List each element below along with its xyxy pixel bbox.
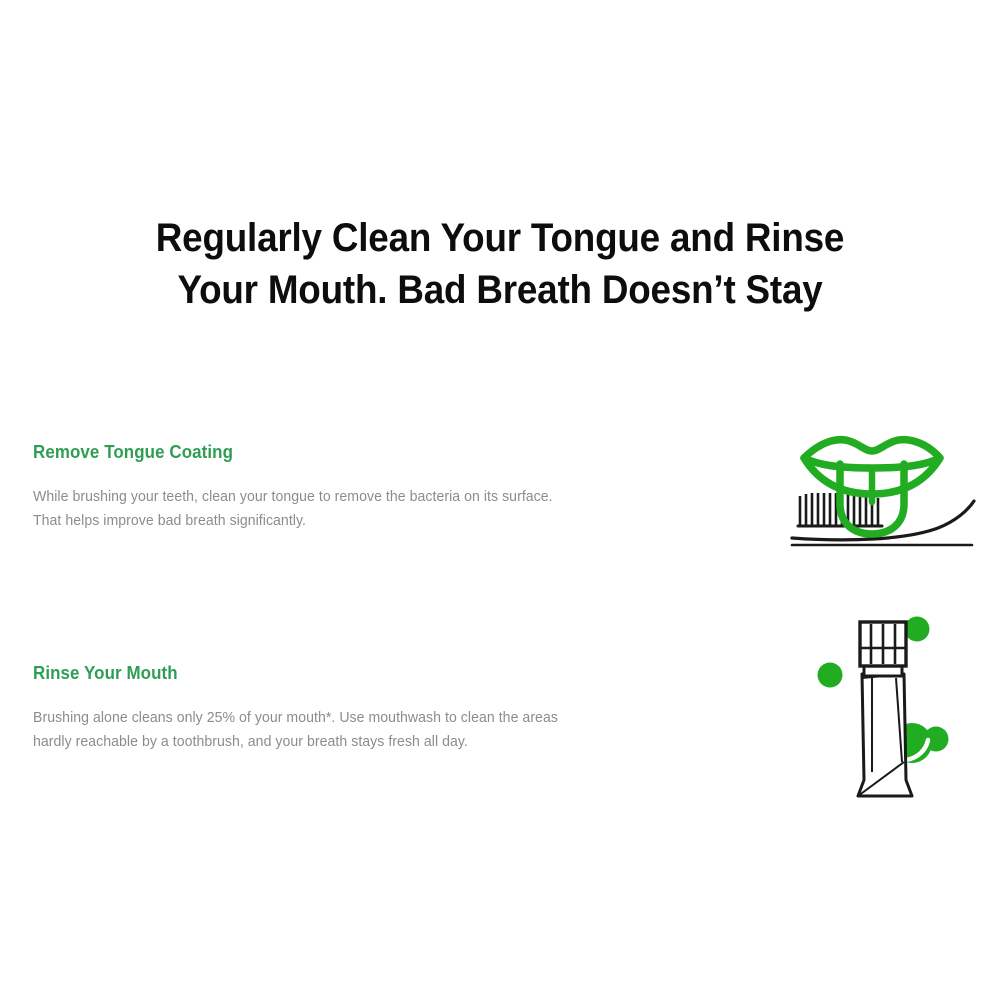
tongue-toothbrush-icon <box>786 418 982 550</box>
section-remove-tongue-coating: Remove Tongue Coating While brushing you… <box>33 441 633 533</box>
green-dot-top-right <box>905 617 930 642</box>
section-heading: Remove Tongue Coating <box>33 441 597 463</box>
green-dot-left <box>818 663 843 688</box>
section-body: While brushing your teeth, clean your to… <box>33 463 574 533</box>
mouthwash-bottle-icon <box>806 612 970 808</box>
section-body: Brushing alone cleans only 25% of your m… <box>33 684 574 754</box>
page-title: Regularly Clean Your Tongue and Rinse Yo… <box>95 212 905 316</box>
page-title-line-1: Regularly Clean Your Tongue and Rinse <box>95 212 905 264</box>
page-title-line-2: Your Mouth. Bad Breath Doesn’t Stay <box>95 264 905 316</box>
page-canvas: Regularly Clean Your Tongue and Rinse Yo… <box>0 0 1000 1001</box>
section-heading: Rinse Your Mouth <box>33 662 597 684</box>
section-rinse-your-mouth: Rinse Your Mouth Brushing alone cleans o… <box>33 662 633 754</box>
